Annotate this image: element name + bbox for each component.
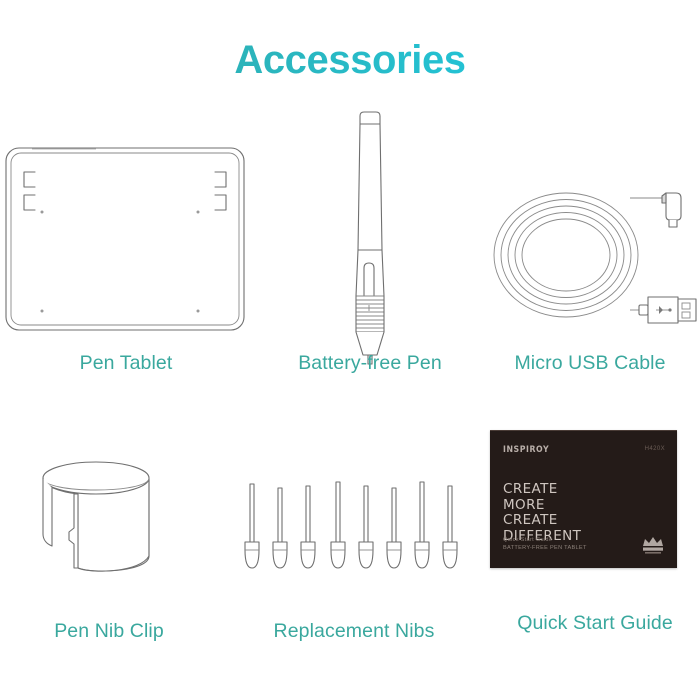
booklet-slogan: CREATE MORE CREATE DIFFERENT [503,482,581,544]
booklet-slogan-line-1: CREATE [503,482,581,498]
accessory-label-pen-tablet: Pen Tablet [0,352,252,375]
replacement-nibs-illustration [218,470,490,610]
accessory-item-nib-clip: Pen Nib Clip [0,440,218,610]
booklet-slogan-line-3: CREATE [503,513,581,529]
booklet-model-label: H420X [645,446,665,452]
accessory-item-cable: Micro USB Cable [480,180,700,340]
accessory-label-pen: Battery-free Pen [250,352,490,375]
accessory-label-nibs: Replacement Nibs [218,620,490,643]
accessory-label-cable: Micro USB Cable [480,352,700,375]
huion-crown-logo [640,534,666,556]
accessory-label-nib-clip: Pen Nib Clip [0,620,218,643]
accessory-item-pen: Battery-free Pen [250,100,490,340]
booklet-cover: INSPIROY H420X CREATE MORE CREATE DIFFER… [490,430,677,568]
pen-tablet-illustration [0,120,252,335]
accessory-item-nibs: Replacement Nibs [218,470,490,610]
booklet-subtitle-line-2: BATTERY-FREE PEN TABLET [503,544,587,552]
booklet-subtitle-line-1: Quick Start Guide [503,536,587,544]
page-title: Accessories [0,40,700,80]
booklet-slogan-line-2: MORE [503,498,581,514]
booklet-subtitle: Quick Start Guide BATTERY-FREE PEN TABLE… [503,536,587,552]
booklet-brand-label: INSPIROY [503,445,549,455]
accessory-item-quick-start-guide: INSPIROY H420X CREATE MORE CREATE DIFFER… [490,430,700,568]
nib-clip-ring-illustration [0,440,218,610]
accessory-item-pen-tablet: Pen Tablet [0,120,252,335]
stylus-pen-illustration [250,100,490,340]
usb-cable-illustration [480,180,700,340]
booklet-illustration: INSPIROY H420X CREATE MORE CREATE DIFFER… [490,430,700,568]
booklet-top-edge [490,430,677,431]
accessory-label-quick-start-guide: Quick Start Guide [490,612,700,635]
accessories-page: Accessories [0,0,700,700]
